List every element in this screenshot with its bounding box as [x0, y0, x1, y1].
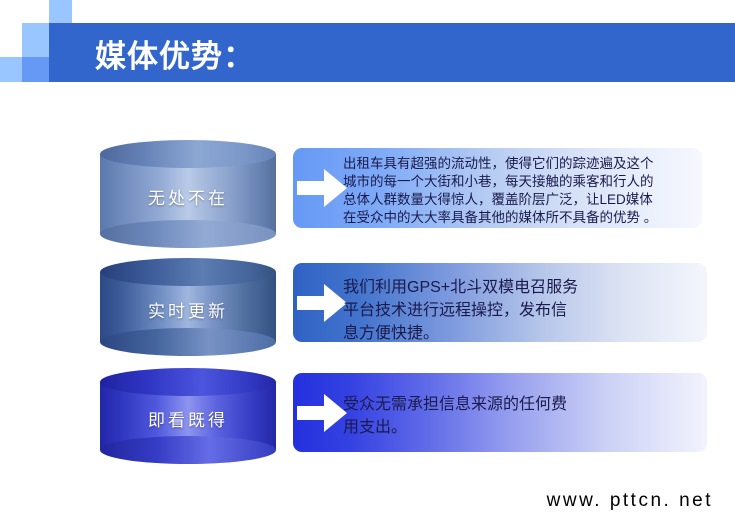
slide-canvas: 媒体优势： 无处不在 出租车具有超强的流动性，使得它们的踪迹遍及这个 城市的每一… — [0, 0, 735, 528]
callout-text-1: 出租车具有超强的流动性，使得它们的踪迹遍及这个 城市的每一个大街和小巷，每天接触… — [343, 155, 698, 227]
header-decoration-square-bottom-left — [0, 57, 22, 82]
content-row-2: 实时更新 我们利用GPS+北斗双模电召服务 平台技术进行远程操控，发布信 息方便… — [0, 258, 735, 358]
cylinder-shape-2: 实时更新 — [100, 258, 276, 356]
cylinder-top-ellipse-3 — [100, 368, 276, 396]
cylinder-bottom-ellipse-3 — [100, 436, 276, 464]
callout-banner-1: 出租车具有超强的流动性，使得它们的踪迹遍及这个 城市的每一个大街和小巷，每天接触… — [293, 148, 702, 228]
cylinder-label-2: 实时更新 — [100, 297, 276, 322]
cylinder-shape-3: 即看既得 — [100, 368, 276, 464]
header-decoration-square-top — [49, 0, 72, 23]
header-decoration-square-bottom-mid — [22, 57, 49, 82]
callout-text-2: 我们利用GPS+北斗双模电召服务 平台技术进行远程操控，发布信 息方便快捷。 — [343, 276, 699, 345]
callout-text-3: 受众无需承担信息来源的任何费 用支出。 — [343, 393, 699, 439]
cylinder-bottom-ellipse-1 — [100, 220, 276, 248]
cylinder-top-ellipse-1 — [100, 140, 276, 168]
callout-banner-3: 受众无需承担信息来源的任何费 用支出。 — [293, 373, 707, 452]
cylinder-label-3: 即看既得 — [100, 406, 276, 431]
content-row-1: 无处不在 出租车具有超强的流动性，使得它们的踪迹遍及这个 城市的每一个大街和小巷… — [0, 140, 735, 250]
cylinder-shape-1: 无处不在 — [100, 140, 276, 248]
content-row-3: 即看既得 受众无需承担信息来源的任何费 用支出。 — [0, 368, 735, 466]
cylinder-label-1: 无处不在 — [100, 184, 276, 209]
page-title: 媒体优势： — [95, 31, 255, 76]
footer-watermark-url: www. pttcn. net — [547, 490, 713, 512]
cylinder-top-ellipse-2 — [100, 258, 276, 286]
arrow-right-icon — [297, 281, 347, 325]
arrow-right-icon — [297, 166, 347, 210]
header-decoration-square-left — [22, 23, 49, 57]
callout-banner-2: 我们利用GPS+北斗双模电召服务 平台技术进行远程操控，发布信 息方便快捷。 — [293, 263, 707, 342]
arrow-right-icon — [297, 391, 347, 435]
cylinder-bottom-ellipse-2 — [100, 328, 276, 356]
